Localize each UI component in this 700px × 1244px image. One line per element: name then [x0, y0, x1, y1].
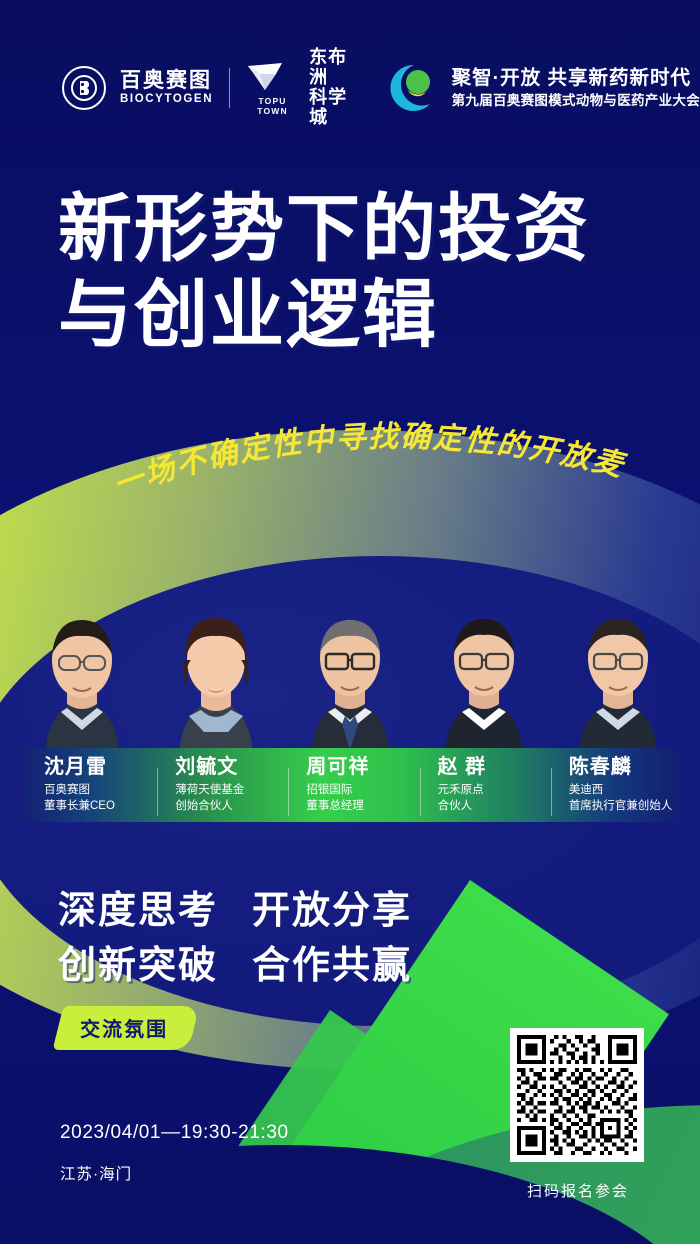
conference-branding: 聚智·开放 共享新药新时代 第九届百奥赛图模式动物与医药产业大会	[388, 62, 700, 114]
slogan-block: 深度思考 开放分享 创新突破 合作共赢	[58, 884, 578, 994]
speaker-photo	[15, 556, 149, 756]
slogan-word: 合作共赢	[252, 939, 412, 994]
atmosphere-badge-label: 交流氛围	[80, 1013, 168, 1042]
title-line-1: 新形势下的投资	[58, 186, 658, 272]
poster-title: 新形势下的投资 与创业逻辑	[58, 186, 658, 358]
qr-code[interactable]	[510, 1028, 644, 1162]
biocytogen-logo-icon	[62, 66, 106, 110]
speaker-entry: 刘毓文 薄荷天使基金 创始合伙人	[153, 756, 284, 814]
speaker-photo	[283, 556, 417, 756]
speaker-org: 百奥赛图	[44, 783, 153, 799]
atmosphere-badge: 交流氛围	[53, 1006, 200, 1050]
biocytogen-name-cn: 百奥赛图	[120, 70, 213, 92]
speaker-photo	[551, 556, 685, 756]
speaker-name: 赵 群	[438, 756, 547, 778]
speaker-photo	[417, 556, 551, 756]
event-datetime: 2023/04/01—19:30-21:30	[60, 1122, 289, 1144]
slogan-word: 创新突破	[58, 939, 218, 994]
speaker-name: 刘毓文	[175, 756, 284, 778]
speaker-role: 首席执行官兼创始人	[569, 799, 678, 815]
speaker-org: 美迪西	[569, 783, 678, 799]
logo-divider	[229, 68, 230, 108]
qr-caption: 扫码报名参会	[508, 1180, 648, 1201]
conference-subtitle: 第九届百奥赛图模式动物与医药产业大会	[452, 92, 700, 110]
speaker-name: 周可祥	[306, 756, 415, 778]
topu-town-name-cn-line1: 东布洲	[309, 48, 358, 88]
speaker-name: 沈月雷	[44, 756, 153, 778]
speaker-role: 合伙人	[438, 799, 547, 815]
speaker-photo	[149, 556, 283, 756]
topu-town-name-cn-line2: 科学城	[309, 88, 358, 128]
brand-biocytogen: 百奥赛图 BIOCYTOGEN	[62, 66, 213, 110]
speaker-name: 陈春麟	[569, 756, 678, 778]
event-location: 江苏·海门	[60, 1162, 132, 1184]
speaker-role: 创始合伙人	[175, 799, 284, 815]
speaker-entry: 陈春麟 美迪西 首席执行官兼创始人	[547, 756, 678, 814]
title-line-2: 与创业逻辑	[58, 272, 658, 358]
event-poster: 百奥赛图 BIOCYTOGEN TOPU TOWN 东布洲 科学城	[0, 0, 700, 1244]
speaker-entry: 沈月雷 百奥赛图 董事长兼CEO	[22, 756, 153, 814]
gem-icon	[246, 60, 284, 94]
speaker-entry: 赵 群 元禾原点 合伙人	[416, 756, 547, 814]
topu-town-name-en: TOPU TOWN	[246, 96, 299, 116]
speaker-org: 薄荷天使基金	[175, 783, 284, 799]
slogan-row-2: 创新突破 合作共赢	[58, 939, 578, 994]
slogan-row-1: 深度思考 开放分享	[58, 884, 578, 939]
speaker-org: 元禾原点	[438, 783, 547, 799]
biocytogen-name-en: BIOCYTOGEN	[120, 92, 213, 107]
slogan-word: 开放分享	[252, 884, 412, 939]
conference-title: 聚智·开放 共享新药新时代	[452, 67, 700, 89]
speaker-name-bar: 沈月雷 百奥赛图 董事长兼CEO 刘毓文 薄荷天使基金 创始合伙人 周可祥 招银…	[22, 748, 678, 822]
conference-ring-icon	[388, 62, 440, 114]
speaker-org: 招银国际	[306, 783, 415, 799]
speaker-photo-row	[0, 556, 700, 756]
brand-topu-town: TOPU TOWN 东布洲 科学城	[246, 48, 358, 127]
header-logos: 百奥赛图 BIOCYTOGEN TOPU TOWN 东布洲 科学城	[0, 46, 700, 130]
speaker-role: 董事长兼CEO	[44, 799, 153, 815]
speaker-role: 董事总经理	[306, 799, 415, 815]
speaker-entry: 周可祥 招银国际 董事总经理	[284, 756, 415, 814]
slogan-word: 深度思考	[58, 884, 218, 939]
